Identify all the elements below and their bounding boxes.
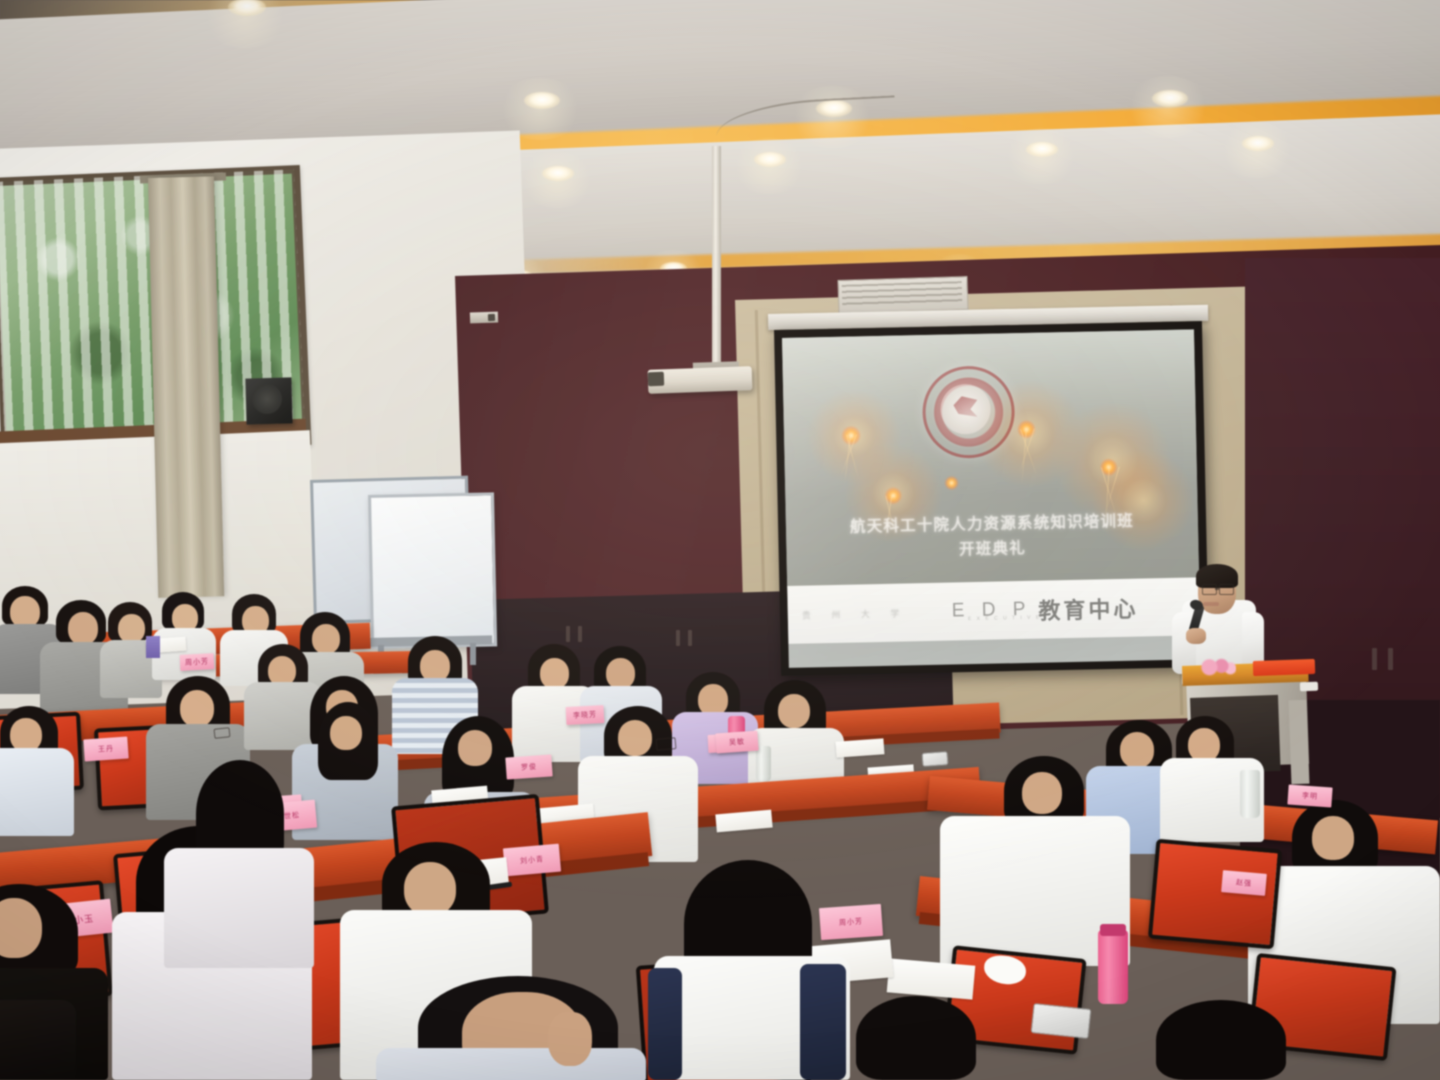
namecard: 罗俊 [505, 754, 552, 779]
cabinet-handle [1372, 648, 1377, 670]
attendee-head [404, 862, 456, 916]
attendee-head [606, 658, 635, 689]
notepad [887, 958, 976, 999]
attendee-head [10, 718, 42, 752]
curtain[interactable] [148, 176, 224, 597]
projection-screen: 航天科工十院人力资源系统知识培训班 开班典礼 贵 州 大 学 E D P 教育中… [782, 329, 1201, 668]
attendee-head [68, 612, 98, 645]
cabinet-handle [1388, 648, 1393, 670]
book [146, 636, 160, 658]
attendee-torso [0, 748, 74, 836]
thermos-cap [1100, 924, 1126, 936]
bag-strap [648, 968, 682, 1080]
namecard: 李明 [1287, 784, 1332, 807]
pink-thermos [1098, 930, 1128, 1004]
attendee-head [1312, 816, 1354, 860]
attendee-glasses [656, 737, 677, 751]
attendee-head [618, 720, 652, 756]
attendee-torso [376, 1048, 646, 1080]
lectern-side-leg [1289, 700, 1310, 785]
attendee-hand [548, 1012, 592, 1066]
speaker-hand [1186, 628, 1206, 644]
attendee-glasses [214, 727, 231, 739]
cabinet-handle [578, 626, 582, 642]
speaker-glasses-right [1219, 584, 1234, 595]
attendee-head [778, 694, 810, 728]
bag-strap [800, 964, 846, 1080]
attendee-head [1120, 732, 1154, 768]
namecard: 王丹 [83, 736, 128, 761]
paper-sheet [715, 810, 772, 833]
cabinet-handle [688, 630, 692, 646]
ceiling-downlight [1242, 136, 1274, 151]
attendee-torso [164, 848, 314, 968]
speaker-mouth [1203, 602, 1219, 606]
university-wordmark: 贵 州 大 学 [788, 605, 952, 621]
slide-title-block: 航天科工十院人力资源系统知识培训班 开班典礼 [786, 507, 1199, 566]
paper-sheet [836, 738, 885, 757]
whiteboard-leg [470, 643, 476, 665]
namecard: 刘小青 [503, 844, 561, 877]
smartphone [922, 751, 949, 767]
clear-water-bottle [756, 746, 771, 782]
attendee-hair [1156, 1000, 1286, 1080]
wall-device-indicator [488, 314, 495, 321]
flower-arrangement [1198, 657, 1237, 676]
lectern-paper [1300, 682, 1318, 692]
attendee-head [1022, 772, 1062, 814]
namecard: 赵强 [1221, 870, 1267, 896]
attendee-head [1188, 728, 1220, 762]
attendee-head [118, 614, 145, 643]
lectern-red-strip [1253, 659, 1315, 676]
clear-water-bottle [1240, 770, 1260, 818]
attendee-head [540, 658, 569, 689]
slide-footer-logos: 贵 州 大 学 E D P 教育中心 [787, 577, 1200, 644]
projector-mount-pole [712, 146, 721, 374]
ceiling-downlight [542, 166, 574, 181]
cabinet-handle [566, 626, 570, 642]
education-center-wordmark: 教育中心 [1038, 592, 1139, 626]
smartphone [1031, 1003, 1092, 1039]
speaker-glasses-bridge [1215, 588, 1219, 590]
namecard: 周小芳 [819, 904, 883, 940]
attendee-head [180, 690, 214, 727]
namecard: 周小芳 [180, 653, 215, 671]
attendee-head [330, 716, 362, 750]
namecard: 吴敏 [715, 731, 758, 754]
lecture-hall-photo: 航天科工十院人力资源系统知识培训班 开班典礼 贵 州 大 学 E D P 教育中… [0, 0, 1440, 1080]
ac-vent-slats [842, 281, 963, 307]
downlight-glow [1124, 76, 1212, 138]
ceiling-downlight [524, 92, 560, 109]
projector-lens-icon [648, 372, 664, 387]
ceiling-downlight [1152, 90, 1188, 107]
ceiling-downlight [1026, 142, 1058, 157]
attendee-hair [856, 996, 976, 1080]
attendee-head [458, 730, 492, 766]
whiteboard[interactable] [368, 492, 497, 649]
cabinet-handle [676, 630, 680, 646]
namecard: 李晓芳 [566, 705, 605, 725]
attendee-head [312, 624, 340, 654]
backpack [0, 1000, 76, 1080]
